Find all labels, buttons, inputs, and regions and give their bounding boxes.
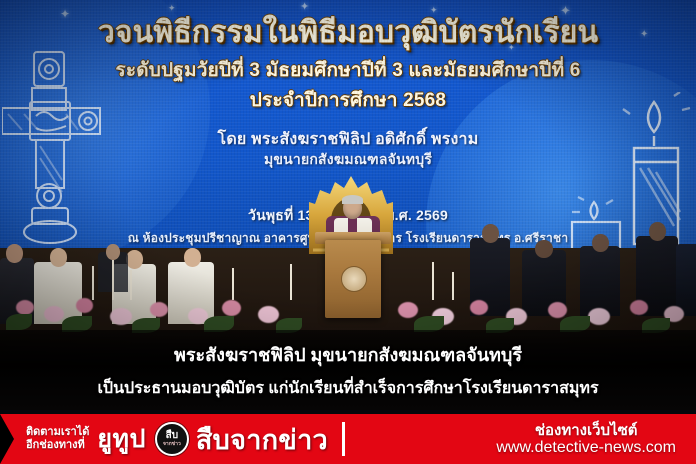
bar-divider [342,422,345,456]
follow-line-1: ติดตามเราได้ [26,426,89,439]
news-photo-card: ✦ ✦ ✦ ✦ ✦ ✦ ✦ ✦ [0,0,696,464]
bottom-branding-bar: ติดตามเราได้ อีกช่องทางที่ ยูทูป สืบ จาก… [0,414,696,464]
youtube-label[interactable]: ยูทูป [97,419,146,459]
website-block[interactable]: ช่องทางเว็บไซต์ www.detective-news.com [496,422,676,457]
brand-logo-top-text: สืบ [166,431,178,441]
caption-block: พระสังฆราชฟิลิป มุขนายกสังฆมณฑลจันทบุรี … [0,330,696,410]
brand-logo-icon: สืบ จากข่าว [155,422,189,456]
follow-us-label: ติดตามเราได้ อีกช่องทางที่ [26,426,89,452]
website-url[interactable]: www.detective-news.com [496,439,676,457]
event-photo: ✦ ✦ ✦ ✦ ✦ ✦ ✦ ✦ [0,0,696,410]
brand-logo-bottom-text: จากข่าว [163,441,181,447]
caption-line-1: พระสังฆราชฟิลิป มุขนายกสังฆมณฑลจันทบุรี [174,340,522,369]
website-label: ช่องทางเว็บไซต์ [496,422,676,439]
caption-line-2: เป็นประธานมอบวุฒิบัตร แก่นักเรียนที่สำเร… [97,376,598,401]
follow-line-2: อีกช่องทางที่ [26,439,89,452]
brand-name[interactable]: สืบจากข่าว [196,418,328,461]
